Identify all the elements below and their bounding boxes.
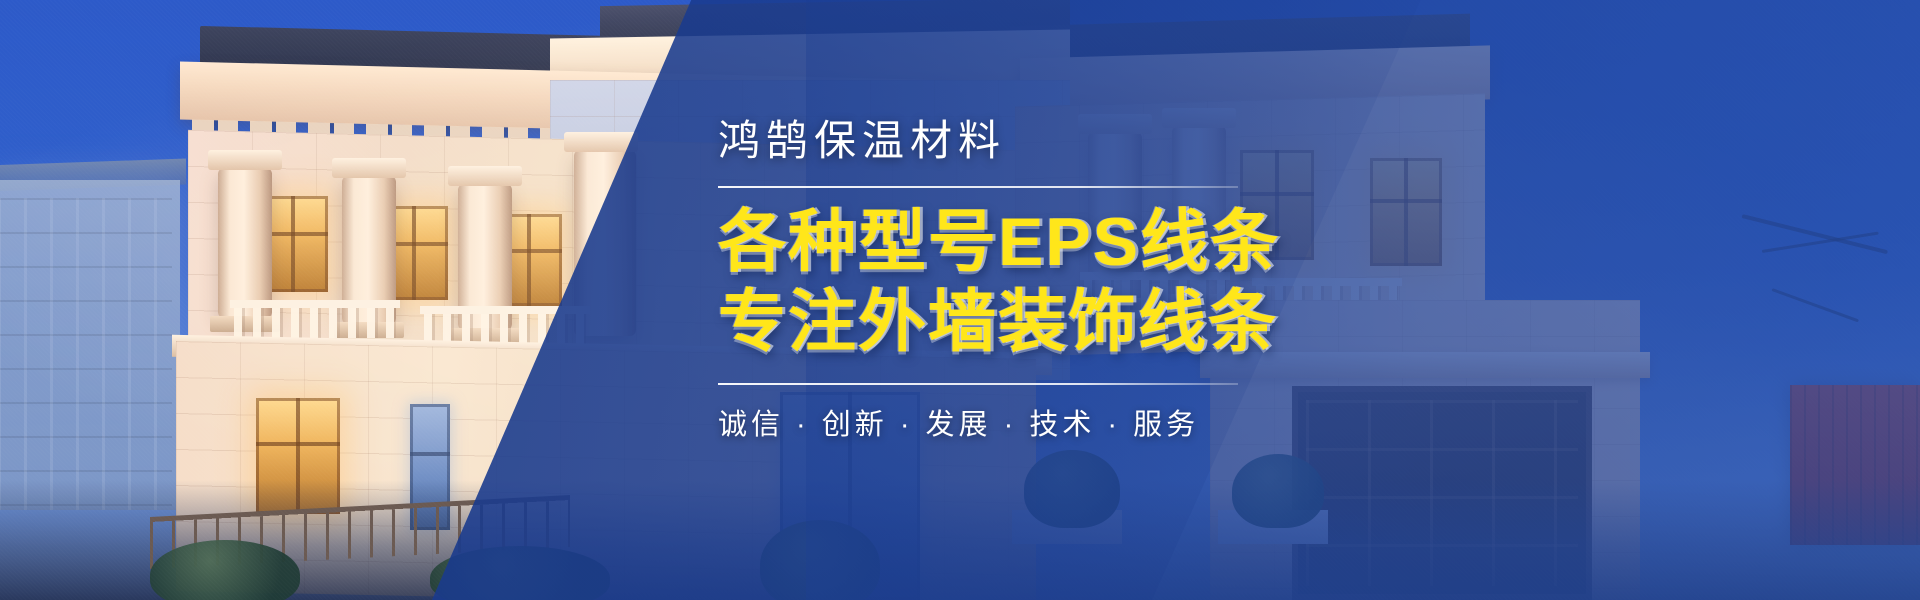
window-mullion-vertical	[412, 206, 416, 300]
column-left-1	[218, 168, 272, 318]
headline-block: 各种型号EPS线条 专注外墙装饰线条	[718, 202, 1418, 362]
column-capital	[208, 150, 282, 170]
window-mullion-vertical	[527, 214, 531, 306]
window-mullion-horizontal	[256, 442, 340, 446]
banner-text-block: 鸿鹄保温材料 各种型号EPS线条 专注外墙装饰线条 诚信 · 创新 · 发展 ·…	[718, 118, 1418, 443]
tagline: 诚信 · 创新 · 发展 · 技术 · 服务	[718, 401, 1418, 443]
column-capital	[332, 158, 406, 178]
divider-rule-top	[718, 186, 1238, 188]
headline-line-2: 专注外墙装饰线条	[718, 282, 1418, 362]
shrub-potted-right	[1232, 454, 1324, 528]
headline-line-1: 各种型号EPS线条	[718, 204, 1280, 280]
promo-banner: 鸿鹄保温材料 各种型号EPS线条 专注外墙装饰线条 诚信 · 创新 · 发展 ·…	[0, 0, 1920, 600]
column-capital	[448, 166, 522, 186]
company-brand-name: 鸿鹄保温材料	[718, 118, 1418, 164]
column-capital	[564, 132, 638, 152]
shrub-1	[760, 520, 880, 600]
window-mullion-vertical	[291, 196, 295, 292]
shrub-potted-left	[1024, 450, 1120, 528]
window-mullion-horizontal	[410, 452, 450, 456]
divider-rule-bottom	[718, 383, 1238, 385]
